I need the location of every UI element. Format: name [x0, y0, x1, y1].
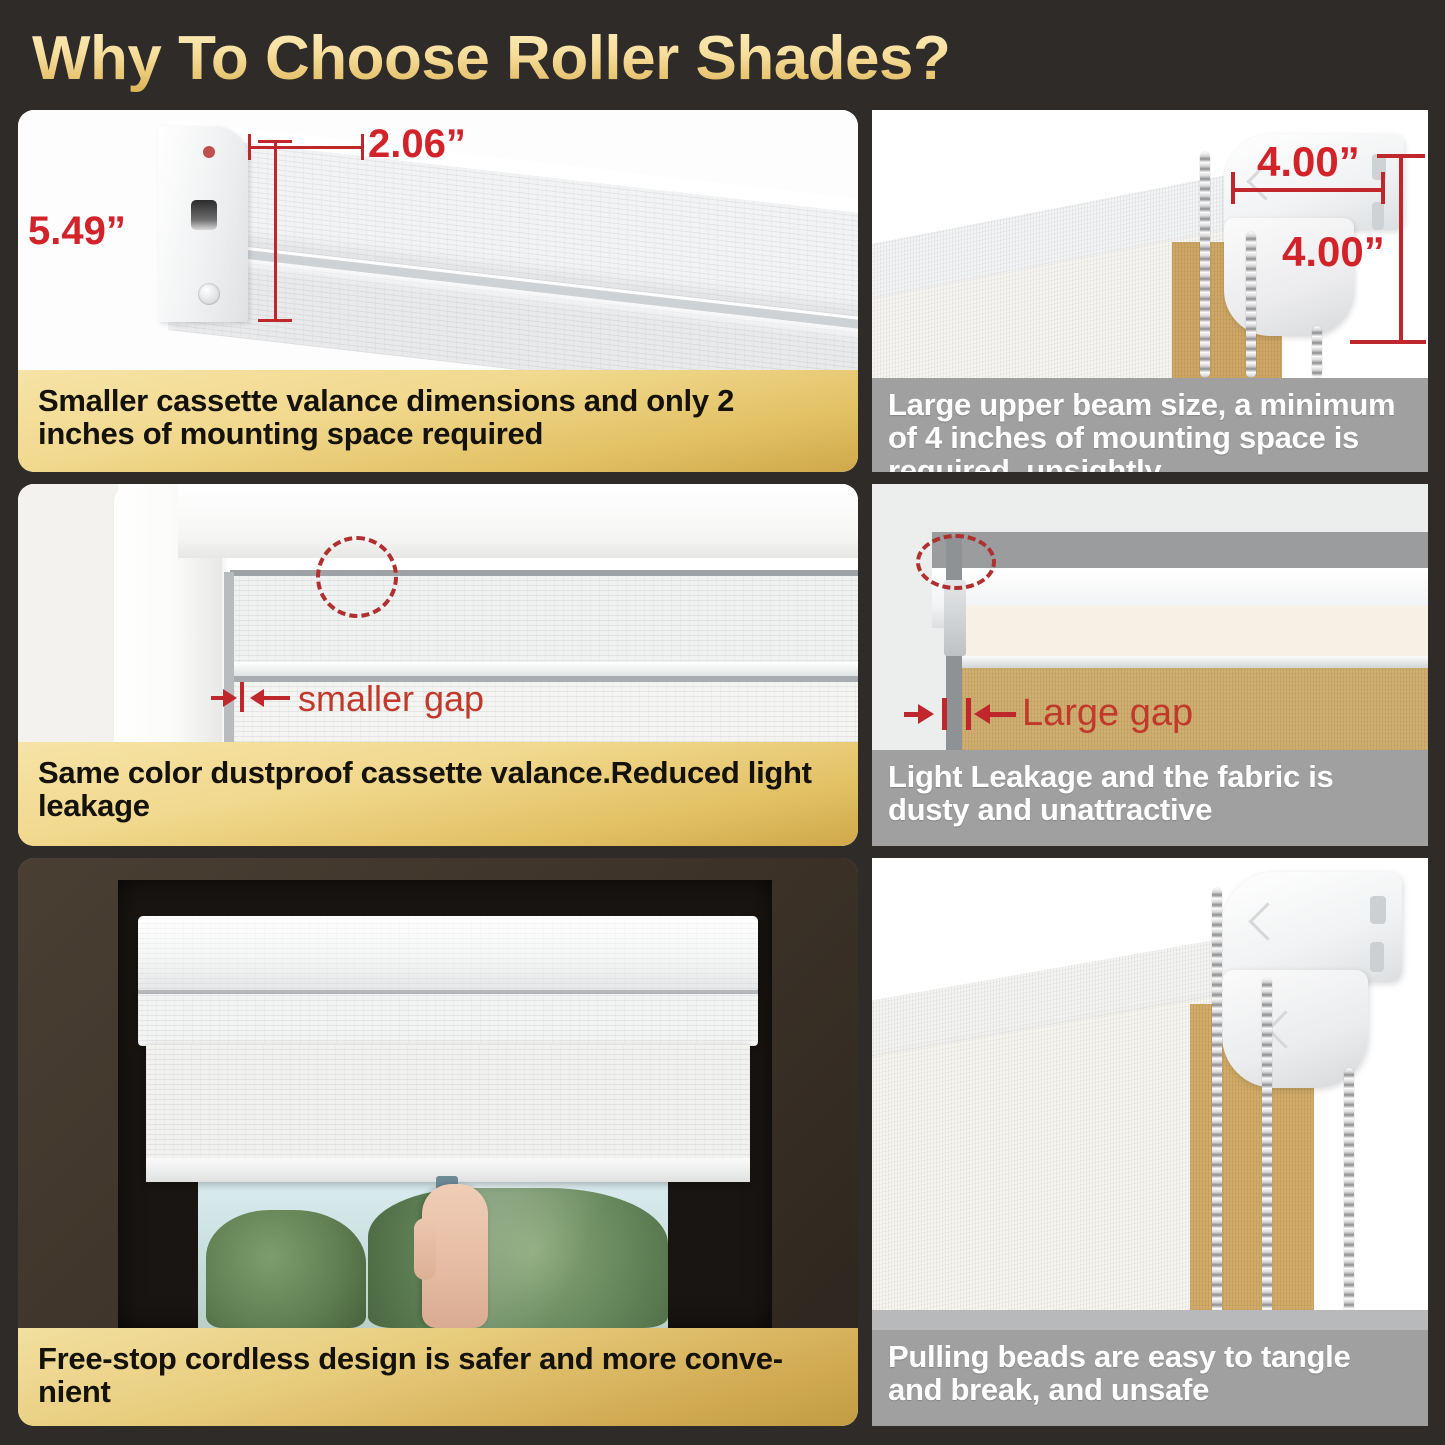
width-dimension-line — [248, 146, 364, 149]
panel-cassette-dimensions: 2.06” 5.49” Smaller cassette valance dim… — [18, 110, 858, 472]
bracket-slot-icon — [191, 200, 217, 230]
gap-arrow-right-head-icon — [250, 689, 264, 707]
panel-cordless-design: Free-stop cordless design is safer and m… — [18, 858, 858, 1426]
bracket-slot-upper-icon — [1370, 896, 1386, 924]
width-dimension-label: 2.06” — [368, 122, 466, 167]
bead-chain-right — [1312, 326, 1322, 378]
bracket-slot-lower-icon — [1370, 942, 1384, 972]
bracket-hardware — [944, 580, 966, 656]
gap-marker-bar-b — [966, 698, 971, 730]
bracket-pin-icon — [203, 146, 215, 158]
bead-chain-right — [1344, 1068, 1354, 1330]
gap-arrow-left-head-icon — [223, 689, 237, 707]
large-gap-label: Large gap — [1022, 692, 1193, 735]
page-title: Why To Choose Roller Shades? — [32, 20, 1032, 98]
beam-height-dimension-line — [1399, 154, 1403, 344]
beam-height-tick-bottom — [1350, 340, 1426, 344]
gap-marker-bar-a — [942, 698, 947, 730]
gap-arrow-right-head-icon — [974, 704, 990, 724]
cordless-design-photo — [18, 858, 858, 1328]
side-rail — [224, 572, 234, 742]
cream-fabric-band — [958, 606, 1428, 662]
panel-large-upper-beam: 4.00” 4.00” Large upper beam size, a min… — [872, 110, 1428, 472]
beam-width-dimension-label: 4.00” — [1257, 138, 1360, 186]
beam-width-tick-right — [1381, 172, 1385, 204]
gap-arrow-right-shaft — [264, 696, 290, 700]
caption-dustproof-cassette: Same color dustproof cassette valance.Re… — [18, 742, 858, 846]
smaller-gap-label: smaller gap — [298, 678, 484, 720]
bracket-slot-lower-icon — [1372, 202, 1384, 230]
panel-dustproof-cassette: smaller gap Same color dustproof cassett… — [18, 484, 858, 846]
ceiling-shadow — [932, 532, 1428, 572]
height-dimension-tick-bottom — [258, 319, 292, 322]
gap-marker-bar — [240, 682, 244, 712]
bead-chain-left — [1200, 152, 1210, 378]
bracket-screw-icon — [198, 283, 220, 305]
detail-highlight-circle — [316, 536, 398, 618]
caption-cassette-dimensions: Smaller cassette valance dimensions and … — [18, 370, 858, 472]
beam-height-dimension-label: 4.00” — [1282, 228, 1385, 276]
caption-light-leakage: Light Leakage and the fabric is dusty an… — [872, 750, 1428, 846]
height-dimension-line — [274, 140, 277, 322]
cassette-headrail-texture — [138, 916, 758, 994]
caption-pulling-beads: Pulling beads are easy to tangle and bre… — [872, 1330, 1428, 1426]
beam-height-tick-top — [1377, 154, 1425, 158]
large-upper-beam-photo: 4.00” 4.00” — [872, 110, 1428, 378]
width-dimension-tick-left — [248, 134, 251, 160]
panel-light-leakage: Large gap Light Leakage and the fabric i… — [872, 484, 1428, 846]
infographic-page: Why To Choose Roller Shades? 2.06” 5.49” — [0, 0, 1445, 1445]
caption-cordless-design: Free-stop cordless design is safer and m… — [18, 1328, 858, 1426]
panel-pulling-beads: Pulling beads are easy to tangle and bre… — [872, 858, 1428, 1426]
window-frame-top — [178, 484, 858, 558]
light-leakage-photo: Large gap — [872, 484, 1428, 750]
headrail-lower-lip — [138, 994, 758, 1046]
hand-thumb — [414, 1218, 436, 1280]
bead-chain-mid — [1262, 978, 1272, 1330]
beam-width-tick-left — [1231, 172, 1235, 204]
height-dimension-label: 5.49” — [28, 209, 126, 254]
wall-surface — [18, 484, 118, 742]
bead-chain-left — [1212, 888, 1222, 1330]
height-dimension-tick-top — [258, 140, 292, 143]
caption-large-upper-beam: Large upper beam size, a minimum of 4 in… — [872, 378, 1428, 472]
beam-bottom-edge — [958, 656, 1428, 668]
detail-highlight-circle — [916, 534, 996, 590]
width-dimension-tick-right — [361, 134, 364, 160]
gap-arrow-left-head-icon — [918, 704, 934, 724]
pulling-beads-photo — [872, 858, 1428, 1330]
tree-foliage-left — [206, 1210, 366, 1328]
gap-arrow-right-shaft — [990, 712, 1016, 717]
cassette-dimensions-photo: 2.06” 5.49” — [18, 110, 858, 370]
bead-chain-mid — [1246, 232, 1256, 378]
beam-width-dimension-line — [1232, 188, 1384, 192]
floor-shadow — [872, 1310, 1428, 1330]
dustproof-cassette-photo: smaller gap — [18, 484, 858, 742]
